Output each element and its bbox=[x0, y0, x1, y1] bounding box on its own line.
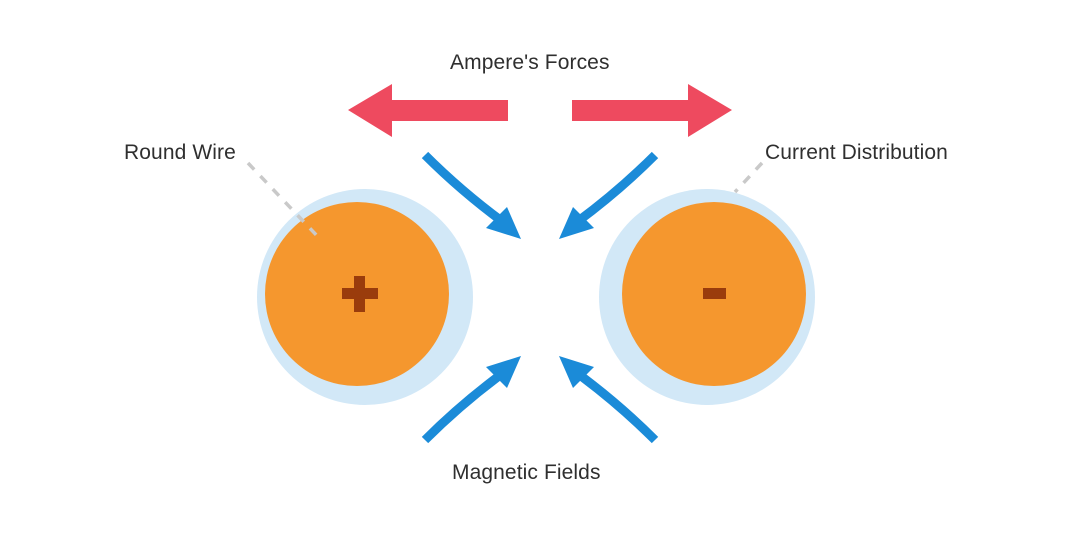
wire-right-group bbox=[599, 189, 815, 405]
force-arrows-group bbox=[348, 84, 732, 137]
wire-left-group bbox=[257, 189, 473, 405]
label-magnetic-fields: Magnetic Fields bbox=[452, 462, 601, 483]
label-round-wire: Round Wire bbox=[124, 142, 236, 163]
polarity-minus-right bbox=[703, 288, 726, 299]
force-arrow-left bbox=[348, 84, 508, 137]
force-arrow-right bbox=[572, 84, 732, 137]
leader-line-current-distribution bbox=[735, 163, 762, 192]
diagram-title: Ampere's Forces bbox=[450, 52, 610, 73]
ampere-forces-diagram: Ampere's Forces Round Wire Current Distr… bbox=[0, 0, 1080, 550]
label-current-distribution: Current Distribution bbox=[765, 142, 948, 163]
